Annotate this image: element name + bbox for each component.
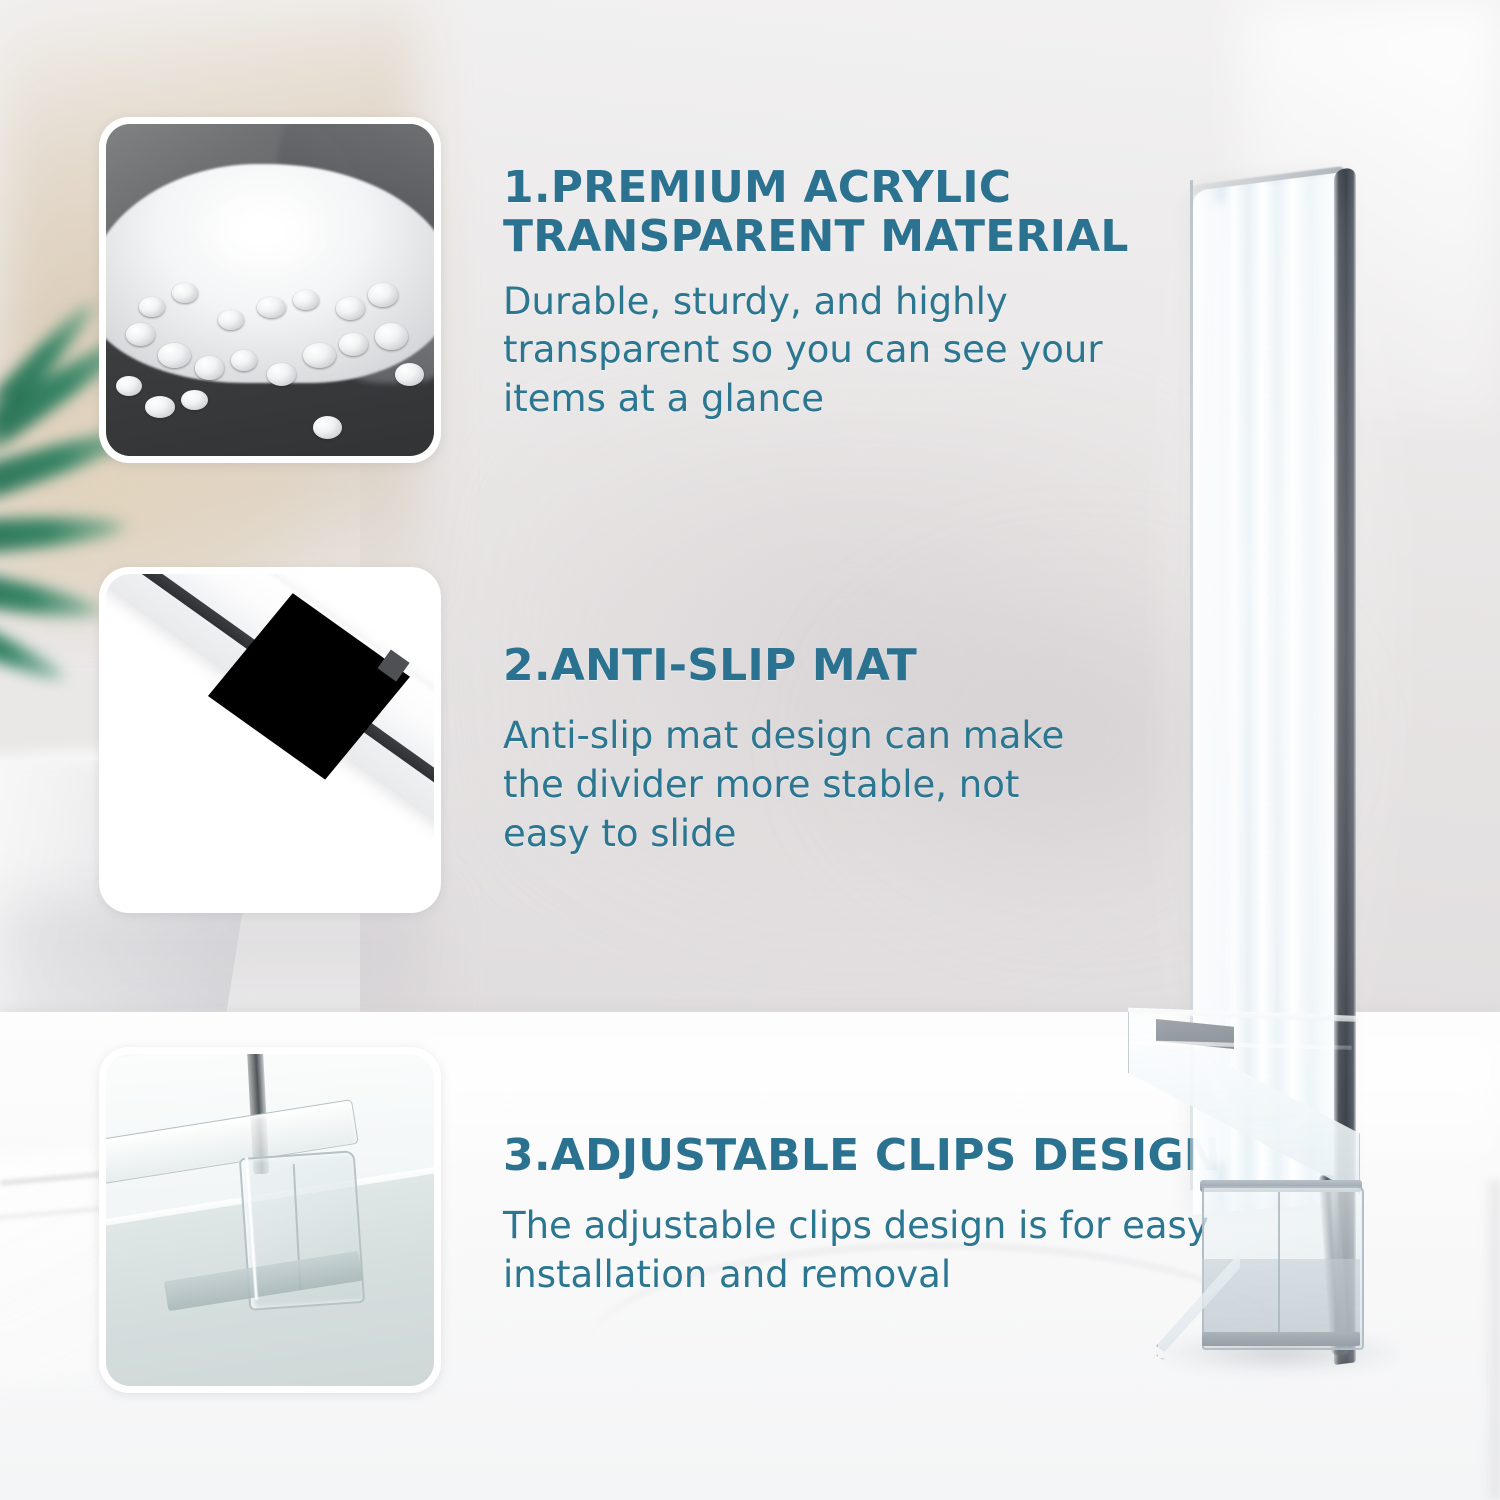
feature-thumbnail-2: [99, 567, 441, 913]
feature-body-2: Anti-slip mat design can make the divide…: [503, 712, 1093, 858]
panel-sheen: [1200, 200, 1240, 1165]
clip-foot-seam: [1278, 1192, 1280, 1338]
feature-title-1: 1.PREMIUM ACRYLIC TRANSPARENT MATERIAL: [503, 163, 1143, 262]
hero-product-image: [1120, 140, 1500, 1380]
feature-title-2: 2.ANTI-SLIP MAT: [503, 641, 1093, 690]
feature-block-2: 2.ANTI-SLIP MAT Anti-slip mat design can…: [503, 641, 1093, 859]
infographic-canvas: 1.PREMIUM ACRYLIC TRANSPARENT MATERIAL D…: [0, 0, 1500, 1500]
adjustable-clip-photo: [106, 1054, 434, 1386]
acrylic-pellets-photo: [106, 124, 434, 456]
anti-slip-mat-photo: [106, 574, 434, 906]
feature-thumbnail-3: [99, 1047, 441, 1393]
feature-body-1: Durable, sturdy, and highly transparent …: [503, 278, 1143, 424]
feature-thumbnail-1: [99, 117, 441, 463]
feature-block-1: 1.PREMIUM ACRYLIC TRANSPARENT MATERIAL D…: [503, 163, 1143, 424]
product-shadow: [1160, 1338, 1400, 1374]
